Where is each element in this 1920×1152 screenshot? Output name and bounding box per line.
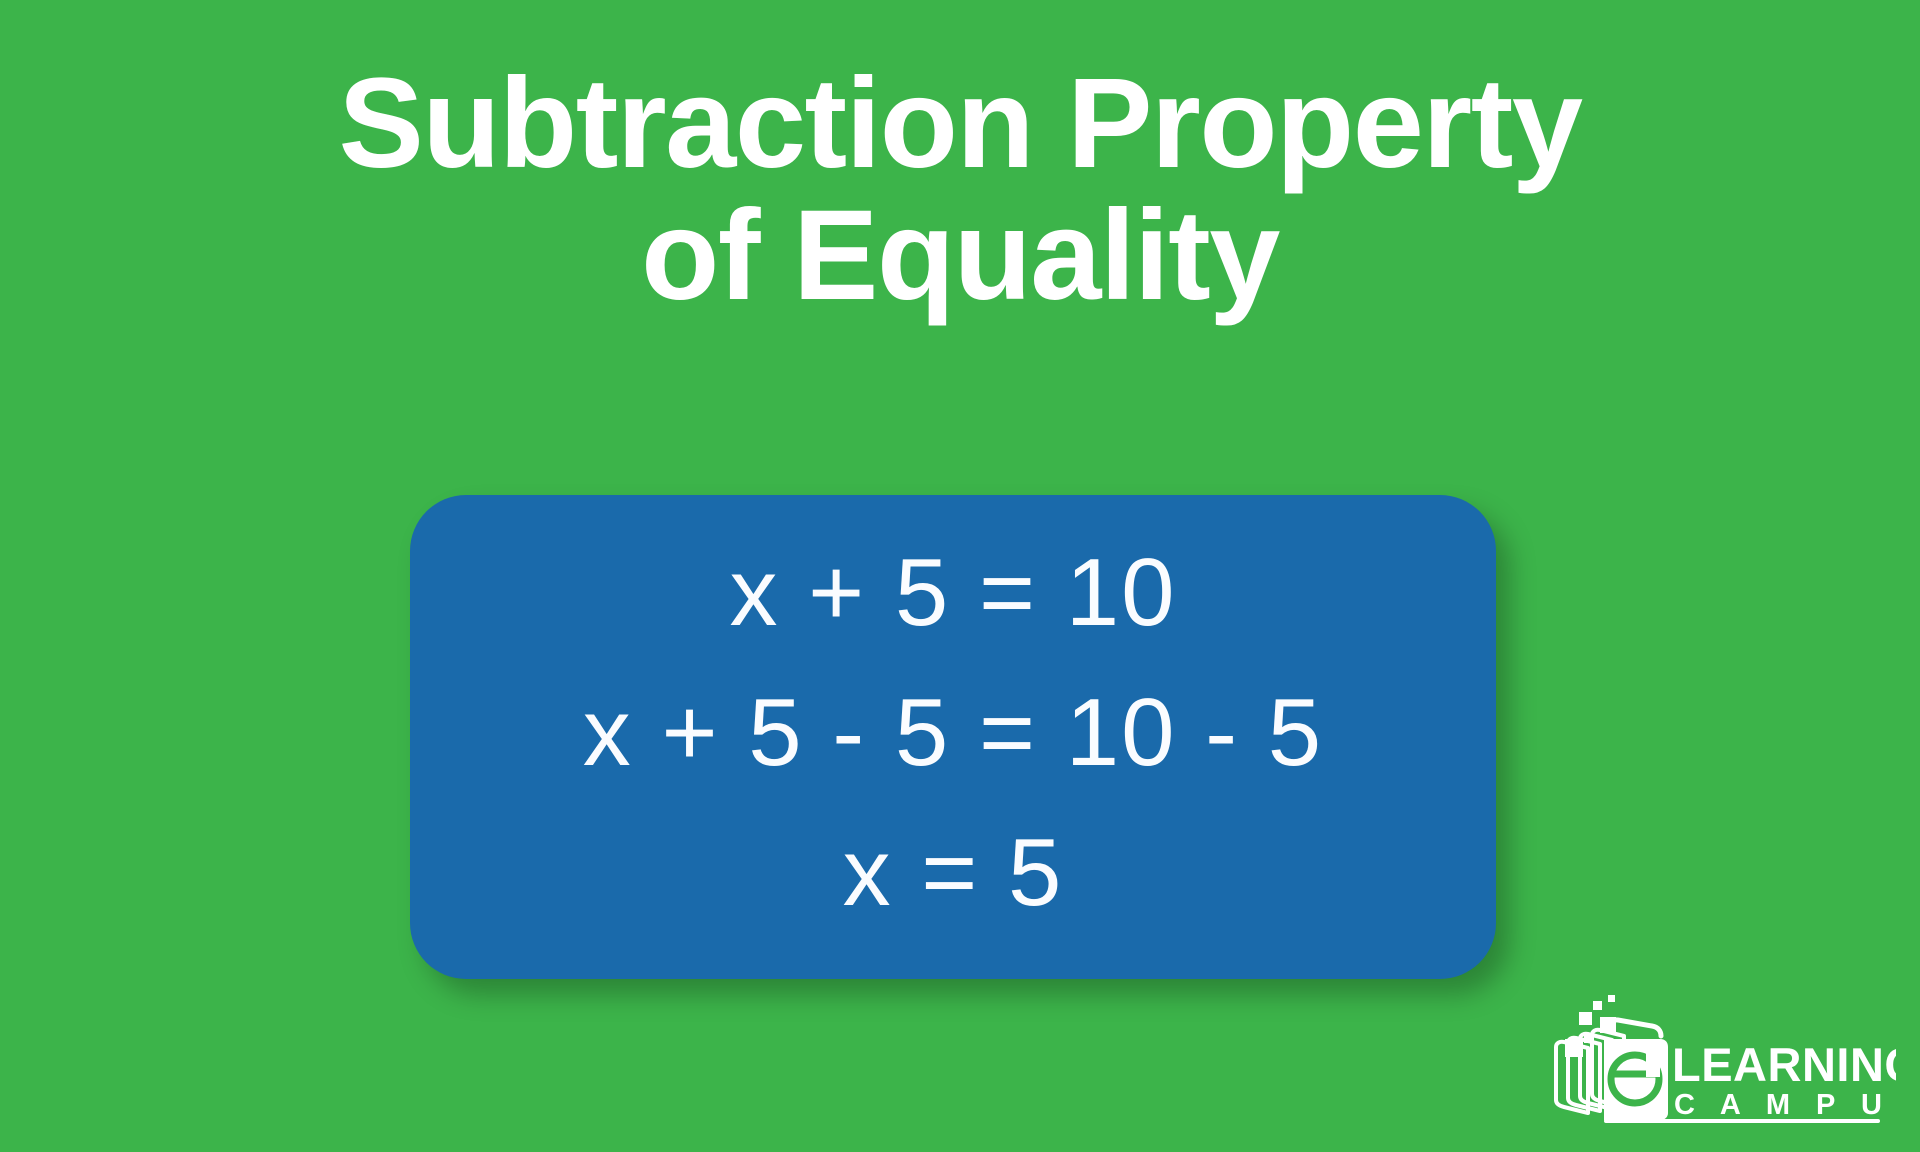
- title-line-2: of Equality: [120, 190, 1800, 322]
- logo-artwork: LEARNING C A M P U S: [1548, 995, 1896, 1127]
- equation-line-3: x = 5: [843, 803, 1064, 943]
- slide-canvas: Subtraction Property of Equality x + 5 =…: [0, 0, 1920, 1152]
- equation-line-2: x + 5 - 5 = 10 - 5: [583, 663, 1323, 803]
- logo-learning-text: LEARNING: [1672, 1038, 1896, 1091]
- page-title: Subtraction Property of Equality: [0, 58, 1920, 322]
- elearning-campus-logo[interactable]: LEARNING C A M P U S: [1548, 995, 1896, 1127]
- title-line-1: Subtraction Property: [120, 58, 1800, 190]
- equation-card: x + 5 = 10 x + 5 - 5 = 10 - 5 x = 5: [410, 495, 1496, 979]
- equation-line-1: x + 5 = 10: [730, 523, 1177, 663]
- logo-campus-text: C A M P U S: [1674, 1089, 1896, 1121]
